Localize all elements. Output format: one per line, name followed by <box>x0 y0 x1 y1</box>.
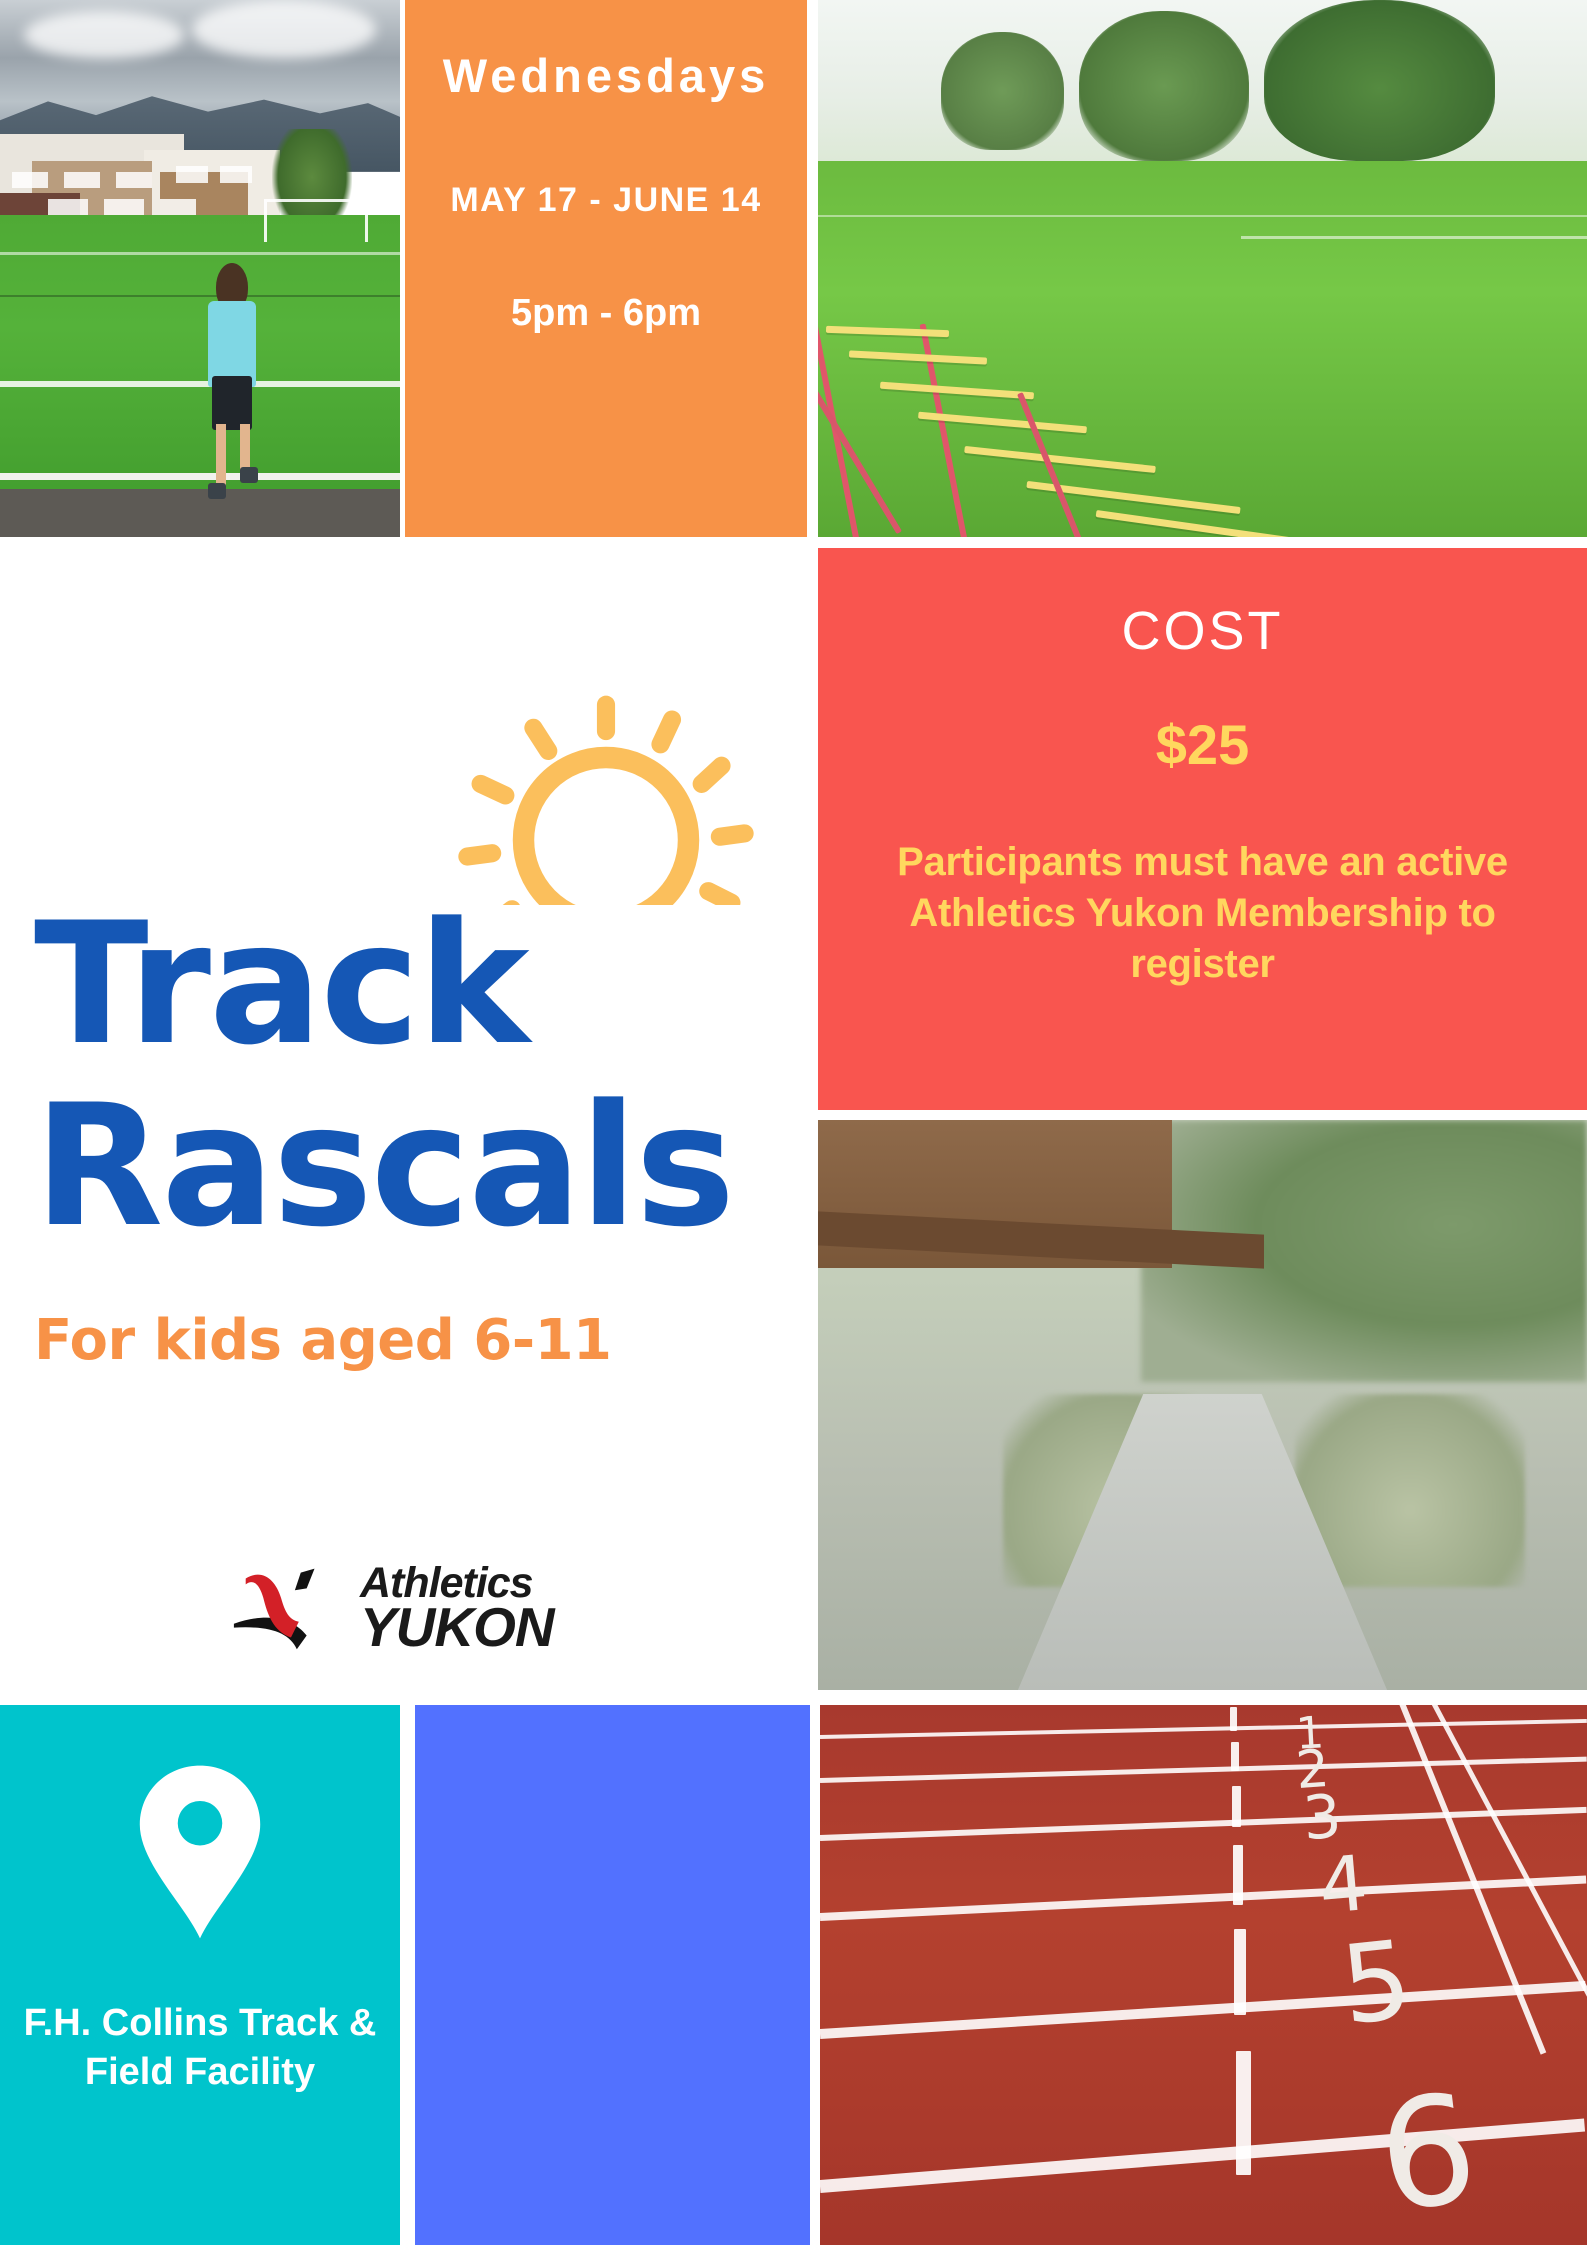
poster-canvas: Wednesdays MAY 17 - JUNE 14 5pm - 6pm <box>0 0 1587 2245</box>
window <box>48 199 88 215</box>
schedule-time-label: 5pm - 6pm <box>511 292 701 335</box>
child-shorts <box>212 376 252 430</box>
page-title-line-1: Track <box>34 905 807 1065</box>
path-asphalt <box>0 489 400 537</box>
map-pin-icon <box>134 1763 266 1941</box>
location-panel: F.H. Collins Track & Field Facility <box>0 1705 400 2245</box>
field-line <box>0 473 400 480</box>
lane-line <box>820 1719 1587 1739</box>
window <box>104 199 144 215</box>
start-mark <box>1234 1929 1246 2015</box>
page-title-line-2: Rascals <box>34 1087 807 1247</box>
schedule-panel: Wednesdays MAY 17 - JUNE 14 5pm - 6pm <box>405 0 807 537</box>
schedule-day-label: Wednesdays <box>443 48 769 103</box>
start-mark <box>1233 1845 1243 1904</box>
field-line <box>0 381 400 387</box>
lane-line <box>820 1806 1587 1840</box>
lane-line <box>820 1981 1586 2039</box>
photo-field <box>0 0 400 537</box>
soccer-goal <box>264 199 368 242</box>
cost-membership-note: Participants must have an active Athleti… <box>864 837 1541 991</box>
cloud <box>24 11 184 59</box>
child-leg <box>240 424 250 472</box>
start-mark <box>1236 2051 1251 2175</box>
tree <box>1079 11 1248 161</box>
start-mark <box>1232 1786 1241 1827</box>
schedule-dates-label: MAY 17 - JUNE 14 <box>450 181 761 220</box>
photo-agility-ladder <box>818 0 1587 537</box>
cloud <box>192 0 376 59</box>
athletics-yukon-logo: Athletics YUKON <box>228 1548 558 1668</box>
window <box>64 172 100 188</box>
child-shoe <box>240 467 258 483</box>
age-range-subtitle: For kids aged 6-11 <box>34 1308 807 1373</box>
lane-number: 4 <box>1315 1838 1371 1931</box>
cost-amount: $25 <box>864 712 1541 777</box>
field-line <box>818 215 1587 217</box>
window <box>176 166 208 182</box>
start-mark <box>1230 1707 1237 1731</box>
field-line <box>0 252 400 255</box>
start-mark <box>1231 1742 1239 1772</box>
turf-field <box>818 161 1587 537</box>
photo-track: 1 2 3 4 5 6 <box>820 1705 1587 2245</box>
child-torso <box>208 301 256 387</box>
lane-number: 5 <box>1335 1918 1416 2049</box>
photo-runners <box>818 1120 1587 1690</box>
window <box>160 199 196 215</box>
window <box>116 172 152 188</box>
cost-heading: COST <box>864 600 1541 662</box>
logo-yukon-text: YUKON <box>360 1603 554 1653</box>
tree <box>1264 0 1495 161</box>
field-line <box>0 295 400 297</box>
running-figure-icon <box>228 1558 346 1658</box>
decorative-blue-block <box>415 1705 810 2245</box>
cost-panel: COST $25 Participants must have an activ… <box>818 548 1587 1110</box>
window <box>12 172 48 188</box>
tree <box>941 32 1064 150</box>
logo-wordmark: Athletics YUKON <box>360 1564 554 1652</box>
field-line <box>1241 236 1587 239</box>
child-leg <box>216 424 226 488</box>
lane-number: 6 <box>1370 2062 1486 2245</box>
child-shoe <box>208 483 226 499</box>
location-name-label: F.H. Collins Track & Field Facility <box>0 1999 400 2096</box>
window <box>220 166 252 182</box>
